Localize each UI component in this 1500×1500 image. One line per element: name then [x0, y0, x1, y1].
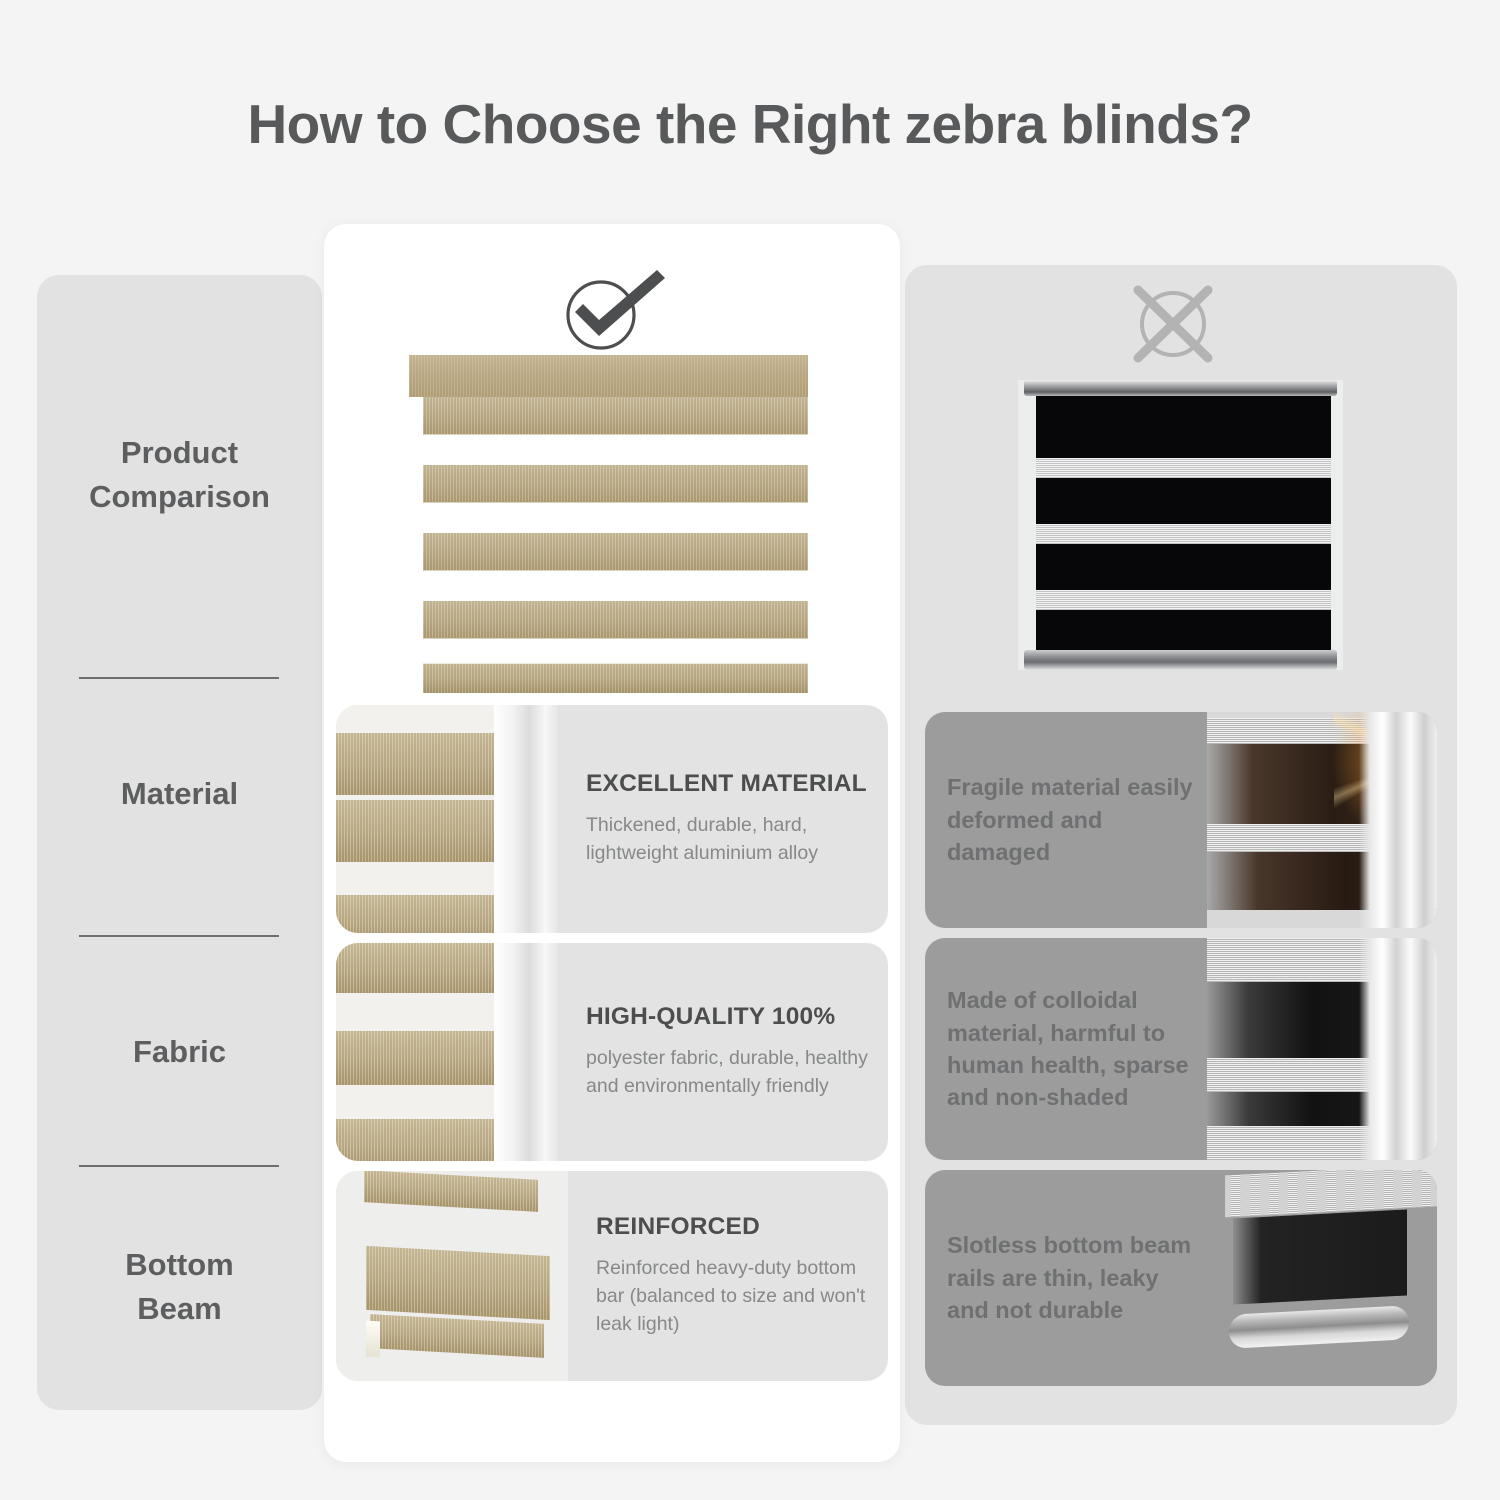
blind-slat: [336, 1119, 516, 1161]
blind-slat: [423, 601, 808, 639]
blind-slat: [423, 465, 808, 503]
blind-slat: [336, 943, 516, 993]
bottom-bar: [423, 663, 808, 693]
good-feature-card-material: EXCELLENT MATERIAL Thickened, durable, h…: [336, 705, 888, 933]
blind-band-dark: [1036, 610, 1331, 650]
good-feature-desc: Reinforced heavy-duty bottom bar (balanc…: [596, 1255, 870, 1338]
sidebar-label-material: Material: [121, 772, 238, 816]
bad-feature-card-material: Fragile material easily deformed and dam…: [925, 712, 1437, 928]
blind-photo-material: [336, 705, 558, 933]
window-frame-edge: [494, 705, 558, 933]
cross-circle-icon: [1118, 282, 1228, 366]
blind-slat: [364, 1171, 538, 1212]
page-title: How to Choose the Right zebra blinds?: [0, 92, 1500, 156]
window-frame-edge: [1359, 938, 1437, 1160]
sidebar-label-line1: Product: [89, 431, 270, 475]
good-feature-desc: Thickened, durable, hard, lightweight al…: [586, 812, 870, 867]
window-frame-edge: [1359, 712, 1437, 928]
good-feature-photo: [336, 705, 558, 933]
blind-photo-fabric: [336, 943, 558, 1161]
bad-feature-text: Fragile material easily deformed and dam…: [925, 712, 1207, 928]
sidebar-panel: Product Comparison Material Fabric Botto…: [37, 275, 322, 1410]
sidebar-label-line1: Bottom: [125, 1243, 233, 1287]
good-feature-title: REINFORCED: [596, 1213, 870, 1241]
metal-headrail: [1024, 380, 1337, 396]
good-feature-card-bottom-beam: REINFORCED Reinforced heavy-duty bottom …: [336, 1171, 888, 1381]
sidebar-label-line2: Beam: [125, 1287, 233, 1331]
check-circle-icon: [553, 268, 673, 358]
headrail: [409, 355, 808, 397]
bad-feature-label: Slotless bottom beam rails are thin, lea…: [947, 1229, 1197, 1326]
bad-feature-photo: [1207, 1170, 1437, 1386]
infographic-root: How to Choose the Right zebra blinds? Pr…: [0, 0, 1500, 1500]
blind-slat: [366, 1246, 550, 1320]
blind-band-dark: [1036, 478, 1331, 524]
bad-feature-label: Made of colloidal material, harmful to h…: [947, 984, 1197, 1114]
good-hero-image: [409, 355, 808, 695]
blind-photo-thin-rail: [1207, 1170, 1437, 1386]
good-feature-text: HIGH-QUALITY 100% polyester fabric, dura…: [558, 943, 888, 1161]
good-feature-desc: polyester fabric, durable, healthy and e…: [586, 1045, 870, 1100]
blind-photo-deformed: [1207, 712, 1437, 928]
good-feature-text: EXCELLENT MATERIAL Thickened, durable, h…: [558, 705, 888, 933]
blind-slat: [423, 533, 808, 571]
good-feature-title: HIGH-QUALITY 100%: [586, 1003, 870, 1031]
blind-slat: [336, 733, 500, 795]
bad-feature-text: Slotless bottom beam rails are thin, lea…: [925, 1170, 1207, 1386]
bottom-rail-bar: [370, 1314, 544, 1358]
blind-band-dark: [1233, 1209, 1407, 1304]
blind-band-sheer: [1036, 590, 1331, 610]
metal-bottom-rail: [1024, 650, 1337, 670]
good-feature-text: REINFORCED Reinforced heavy-duty bottom …: [568, 1171, 888, 1381]
sidebar-item-material: Material: [37, 679, 322, 909]
blind-band-dark: [1036, 396, 1331, 458]
good-feature-photo: [336, 1171, 568, 1381]
bottom-rail-end-cap: [366, 1321, 380, 1358]
bad-feature-text: Made of colloidal material, harmful to h…: [925, 938, 1207, 1160]
sidebar-label-line2: Comparison: [89, 475, 270, 519]
good-feature-card-fabric: HIGH-QUALITY 100% polyester fabric, dura…: [336, 943, 888, 1161]
thin-bottom-rail: [1229, 1305, 1409, 1348]
blind-slat: [336, 895, 516, 933]
blind-band-dark: [1036, 544, 1331, 590]
bad-feature-photo: [1207, 712, 1437, 928]
good-feature-photo: [336, 943, 558, 1161]
blind-band-sheer: [1036, 458, 1331, 478]
bad-feature-card-fabric: Made of colloidal material, harmful to h…: [925, 938, 1437, 1160]
blind-photo-bottom-beam: [336, 1171, 568, 1381]
sidebar-label-fabric: Fabric: [133, 1030, 226, 1074]
sidebar-item-product-comparison: Product Comparison: [37, 275, 322, 675]
blind-slat: [336, 800, 516, 862]
bad-hero-image: [1018, 380, 1343, 670]
bad-feature-card-bottom-beam: Slotless bottom beam rails are thin, lea…: [925, 1170, 1437, 1386]
blind-slat: [336, 1031, 516, 1085]
blind-band-sheer: [1036, 524, 1331, 544]
sidebar-item-fabric: Fabric: [37, 937, 322, 1167]
sidebar-item-bottom-beam: Bottom Beam: [37, 1167, 322, 1407]
window-frame-edge: [494, 943, 558, 1161]
blind-slat: [423, 397, 808, 435]
blind-photo-colloidal: [1207, 938, 1437, 1160]
bad-feature-label: Fragile material easily deformed and dam…: [947, 771, 1197, 868]
bad-feature-photo: [1207, 938, 1437, 1160]
good-feature-title: EXCELLENT MATERIAL: [586, 770, 870, 798]
